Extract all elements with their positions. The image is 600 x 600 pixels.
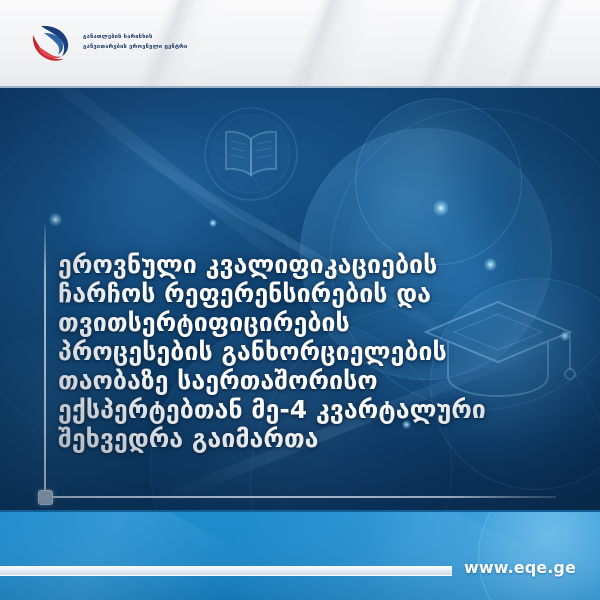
accent-rule-horizontal bbox=[44, 496, 556, 498]
headline-line: პროცესების განხორციელების bbox=[58, 337, 578, 366]
headline-line: შეხვედრა გაიმართა bbox=[58, 424, 578, 453]
sparkle-1 bbox=[433, 200, 449, 216]
poster-canvas: განათლების ხარისხის განვითარების ეროვნულ… bbox=[0, 0, 600, 600]
organization-name-line-2: განვითარების ეროვნული ცენტრი bbox=[83, 44, 187, 52]
site-header: განათლების ხარისხის განვითარების ეროვნულ… bbox=[0, 0, 600, 86]
sparkle-5 bbox=[209, 219, 217, 227]
footer-decorative-bubble bbox=[478, 510, 600, 600]
header-streak-4 bbox=[487, 0, 579, 86]
headline: ეროვნული კვალიფიკაციების ჩარჩოს რეფერენს… bbox=[58, 250, 578, 453]
footer-sheen-1 bbox=[0, 510, 247, 600]
footer-sheen-2 bbox=[209, 510, 580, 600]
accent-rule-node bbox=[38, 490, 53, 505]
eqe-swoosh-logo-icon bbox=[28, 21, 74, 65]
organization-logo[interactable]: განათლების ხარისხის განვითარების ეროვნულ… bbox=[28, 21, 187, 65]
organization-name: განათლების ხარისხის განვითარების ეროვნულ… bbox=[83, 34, 187, 51]
website-url[interactable]: www.eqe.ge bbox=[464, 558, 576, 577]
open-book-icon bbox=[196, 99, 306, 209]
header-streak-2 bbox=[267, 0, 359, 86]
headline-line: ეროვნული კვალიფიკაციების bbox=[58, 250, 578, 279]
headline-line: ექსპერტებთან მე-4 კვარტალური bbox=[58, 395, 578, 424]
header-streak-3 bbox=[397, 0, 489, 86]
announcement-banner: ეროვნული კვალიფიკაციების ჩარჩოს რეფერენს… bbox=[0, 86, 600, 512]
decorative-bubble-2 bbox=[355, 98, 522, 265]
accent-rule-vertical bbox=[44, 225, 46, 497]
sparkle-3 bbox=[49, 213, 62, 226]
headline-line: თვითსერტიფიცირების bbox=[58, 308, 578, 337]
footer-divider-bar bbox=[0, 566, 452, 576]
headline-line: ჩარჩოს რეფერენსირების და bbox=[58, 279, 578, 308]
site-footer: www.eqe.ge bbox=[0, 510, 600, 600]
organization-name-line-1: განათლების ხარისხის bbox=[83, 34, 187, 42]
headline-line: თაობაზე საერთაშორისო bbox=[58, 366, 578, 395]
